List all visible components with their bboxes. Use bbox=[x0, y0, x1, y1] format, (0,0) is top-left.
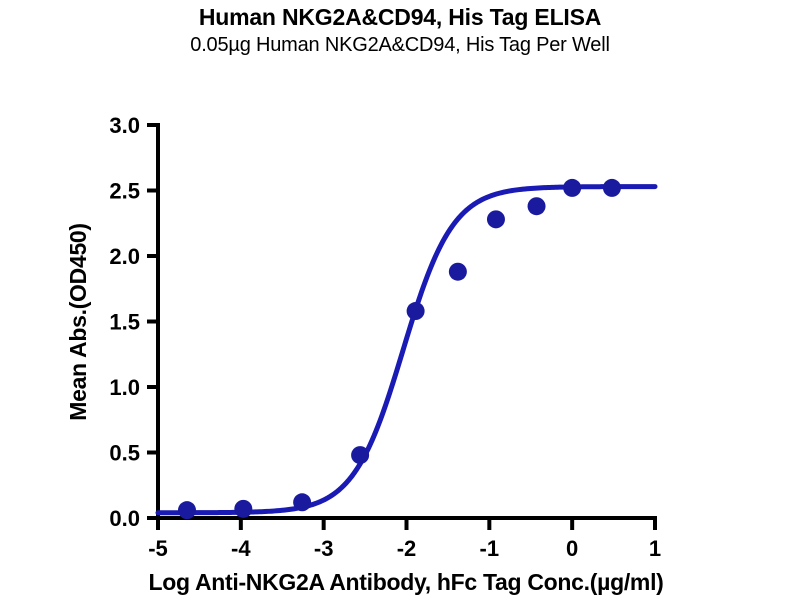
data-point bbox=[563, 179, 581, 197]
y-tick-label: 0.5 bbox=[109, 441, 140, 466]
data-points bbox=[178, 179, 621, 519]
y-axis-tick-labels: 0.00.51.01.52.02.53.0 bbox=[109, 113, 140, 531]
x-axis-title: Log Anti-NKG2A Antibody, hFc Tag Conc.(µ… bbox=[148, 569, 663, 595]
y-tick-label: 2.0 bbox=[109, 244, 140, 269]
elisa-chart-figure: Human NKG2A&CD94, His Tag ELISA 0.05µg H… bbox=[0, 0, 800, 600]
x-tick-label: -5 bbox=[148, 536, 168, 561]
y-tick-label: 3.0 bbox=[109, 113, 140, 138]
y-tick-label: 1.5 bbox=[109, 310, 140, 335]
x-axis-tick-labels: -5-4-3-2-101 bbox=[148, 536, 661, 561]
data-point bbox=[351, 446, 369, 464]
y-tick-label: 0.0 bbox=[109, 506, 140, 531]
axis-lines bbox=[158, 125, 655, 518]
x-tick-label: -2 bbox=[397, 536, 417, 561]
data-point bbox=[178, 501, 196, 519]
data-point bbox=[603, 179, 621, 197]
x-tick-label: -4 bbox=[231, 536, 251, 561]
x-tick-label: 1 bbox=[649, 536, 661, 561]
data-point bbox=[449, 263, 467, 281]
data-point bbox=[528, 197, 546, 215]
y-tick-label: 1.0 bbox=[109, 375, 140, 400]
data-point bbox=[293, 493, 311, 511]
y-axis-title: Mean Abs.(OD450) bbox=[65, 223, 91, 421]
y-tick-label: 2.5 bbox=[109, 179, 140, 204]
x-tick-label: -3 bbox=[314, 536, 334, 561]
x-tick-label: 0 bbox=[566, 536, 578, 561]
sigmoid-fit-curve bbox=[158, 187, 655, 513]
x-tick-label: -1 bbox=[480, 536, 500, 561]
data-point bbox=[234, 500, 252, 518]
data-point bbox=[487, 210, 505, 228]
data-point bbox=[407, 302, 425, 320]
plot-area: 0.00.51.01.52.02.53.0 -5-4-3-2-101 Mean … bbox=[0, 0, 800, 600]
